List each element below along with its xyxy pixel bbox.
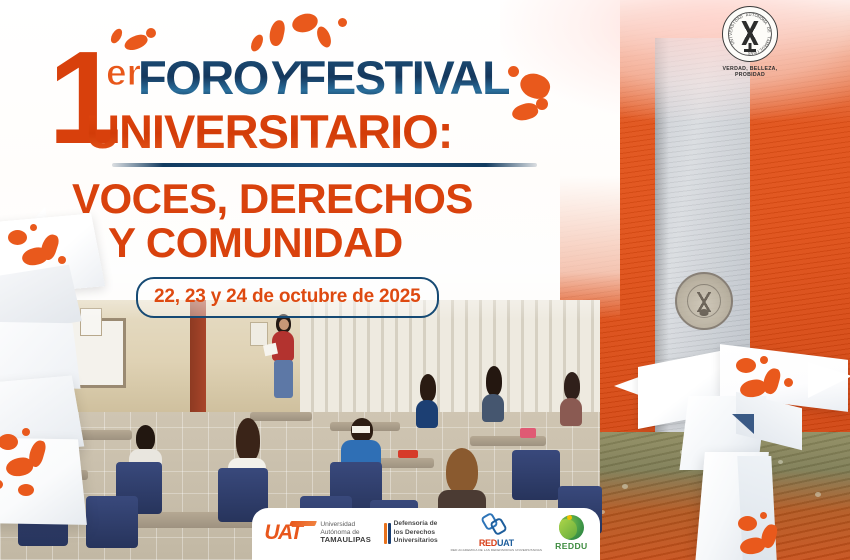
- chair: [512, 450, 560, 500]
- ordinal-suffix: er: [106, 52, 141, 94]
- defensoria-bars-icon: [384, 523, 391, 544]
- seal-base: [744, 49, 756, 52]
- title-line-2: UNIVERSITARIO:: [86, 108, 452, 155]
- subtitle-line-1: VOCES, DERECHOS: [72, 178, 473, 220]
- origami-dove-right: [612, 356, 850, 560]
- red-uat-chainlink-icon: [483, 514, 509, 537]
- red-uat-tagline: RED ACADEMICA DE LAS DEFENSORIAS UNIVERS…: [451, 548, 542, 552]
- title-y: Y: [268, 51, 298, 104]
- reddu-globe-icon: [559, 515, 584, 540]
- reddu-spark-icon: [567, 515, 572, 520]
- person-student: [556, 372, 586, 430]
- footer-logo-band: UAT Universidad Autónoma de TAMAULIPAS D…: [252, 508, 600, 560]
- defensoria-line-1: Defensoría de: [394, 520, 438, 529]
- seal-circle: UNIVERSIDAD AUTONOMA DE TAMAULIPAS: [722, 6, 778, 62]
- uat-logomark: UAT: [264, 522, 316, 544]
- uat-line-3: TAMAULIPAS: [320, 536, 371, 545]
- reddu-wordmark: REDDU: [555, 541, 588, 551]
- red-uat-word-uat: UAT: [497, 538, 514, 548]
- title-festival: FESTIVAL: [298, 51, 510, 104]
- title-divider: [112, 163, 537, 167]
- title-line-1: FOROYFESTIVAL: [138, 54, 509, 101]
- event-date-text: 22, 23 y 24 de octubre de 2025: [154, 286, 421, 307]
- seal-motto: VERDAD, BELLEZA, PROBIDAD: [709, 66, 791, 78]
- logo-uat: UAT Universidad Autónoma de TAMAULIPAS: [264, 521, 371, 545]
- person-student: [412, 374, 442, 430]
- university-seal: UNIVERSIDAD AUTONOMA DE TAMAULIPAS VERDA…: [709, 6, 791, 82]
- subtitle-line-2: Y COMUNIDAD: [108, 222, 403, 264]
- event-date-badge: 22, 23 y 24 de octubre de 2025: [136, 277, 439, 318]
- title-foro: FORO: [138, 51, 268, 104]
- uat-wordmark-text: Universidad Autónoma de TAMAULIPAS: [320, 521, 371, 545]
- uat-line-1: Universidad: [320, 521, 371, 529]
- red-uat-wordmark: REDUAT: [451, 538, 542, 548]
- uat-swoosh-icon: [289, 521, 317, 526]
- emblem-torch-icon: [691, 292, 717, 312]
- logo-red-uat: REDUAT RED ACADEMICA DE LAS DEFENSORIAS …: [451, 514, 542, 552]
- defensoria-line-3: Universitarios: [394, 537, 438, 546]
- building-emblem-icon: [675, 272, 733, 330]
- headline-block: 1 er FOROYFESTIVAL UNIVERSITARIO: VOCES,…: [0, 0, 620, 330]
- poster-canvas: 1 er FOROYFESTIVAL UNIVERSITARIO: VOCES,…: [0, 0, 850, 560]
- logo-defensoria: Defensoría de los Derechos Universitario…: [384, 520, 438, 546]
- defensoria-line-2: los Derechos: [394, 529, 438, 538]
- logo-reddu: REDDU: [555, 515, 588, 551]
- seal-torches-icon: [734, 21, 766, 45]
- defensoria-wordmark: Defensoría de los Derechos Universitario…: [394, 520, 438, 546]
- person-student: [478, 366, 508, 424]
- red-uat-word-red: RED: [479, 538, 497, 548]
